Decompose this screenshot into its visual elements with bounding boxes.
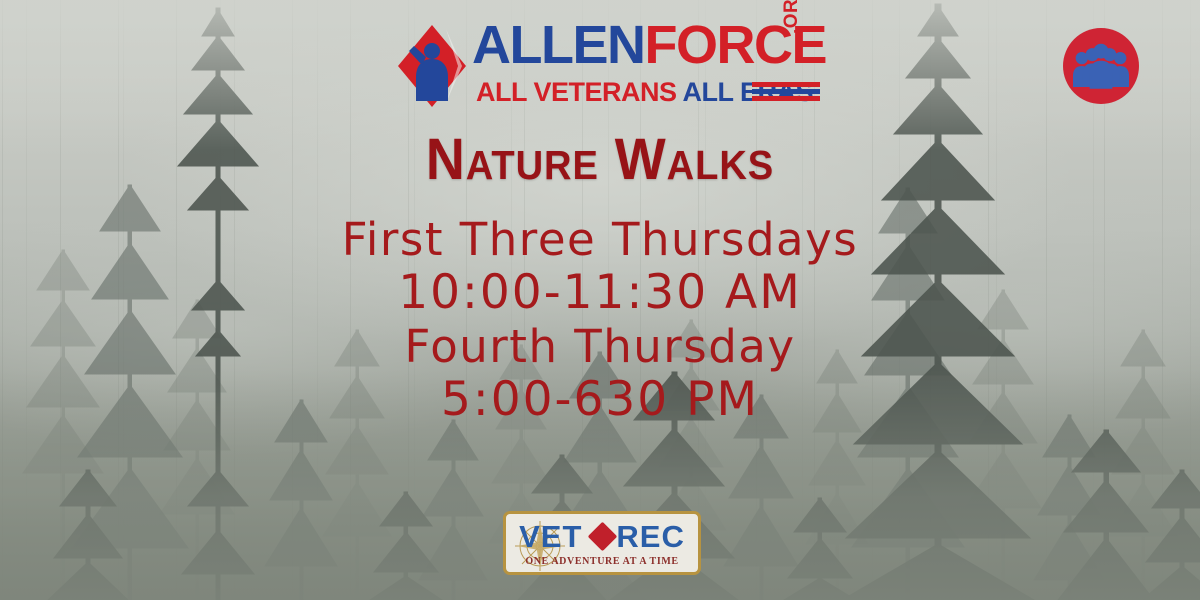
schedule-line-3: Fourth Thursday — [0, 321, 1200, 373]
vetrec-word-rec: REC — [616, 519, 684, 554]
flag-stripes-icon — [752, 82, 820, 104]
tagline-all-veterans: ALL VETERANS — [476, 77, 677, 107]
schedule-line-1: First Three Thursdays — [0, 214, 1200, 266]
allenforce-wordmark: ALLENFORCE — [472, 18, 826, 72]
saluting-soldier-diamond-icon — [396, 24, 468, 108]
schedule-line-4: 5:00-630 PM — [0, 373, 1200, 427]
vetrec-logo: VETREC ONE ADVENTURE AT A TIME — [503, 511, 701, 575]
group-of-people-badge — [1063, 28, 1139, 104]
schedule-block: First Three Thursdays 10:00-11:30 AM Fou… — [0, 214, 1200, 428]
vetrec-word-vet: VET — [519, 519, 582, 554]
allenforce-tld: .ORG — [781, 0, 803, 34]
page-title: Nature Walks — [42, 126, 1158, 193]
poster-canvas: ALLENFORCE .ORG ALL VETERANS ALL ERAS — [0, 0, 1200, 600]
schedule-line-2: 10:00-11:30 AM — [0, 266, 1200, 320]
allenforce-name-allen: ALLEN — [472, 15, 644, 75]
vetrec-tagline: ONE ADVENTURE AT A TIME — [506, 556, 698, 567]
allenforce-logo: ALLENFORCE .ORG ALL VETERANS ALL ERAS — [396, 22, 816, 110]
group-of-people-icon — [1073, 43, 1129, 89]
